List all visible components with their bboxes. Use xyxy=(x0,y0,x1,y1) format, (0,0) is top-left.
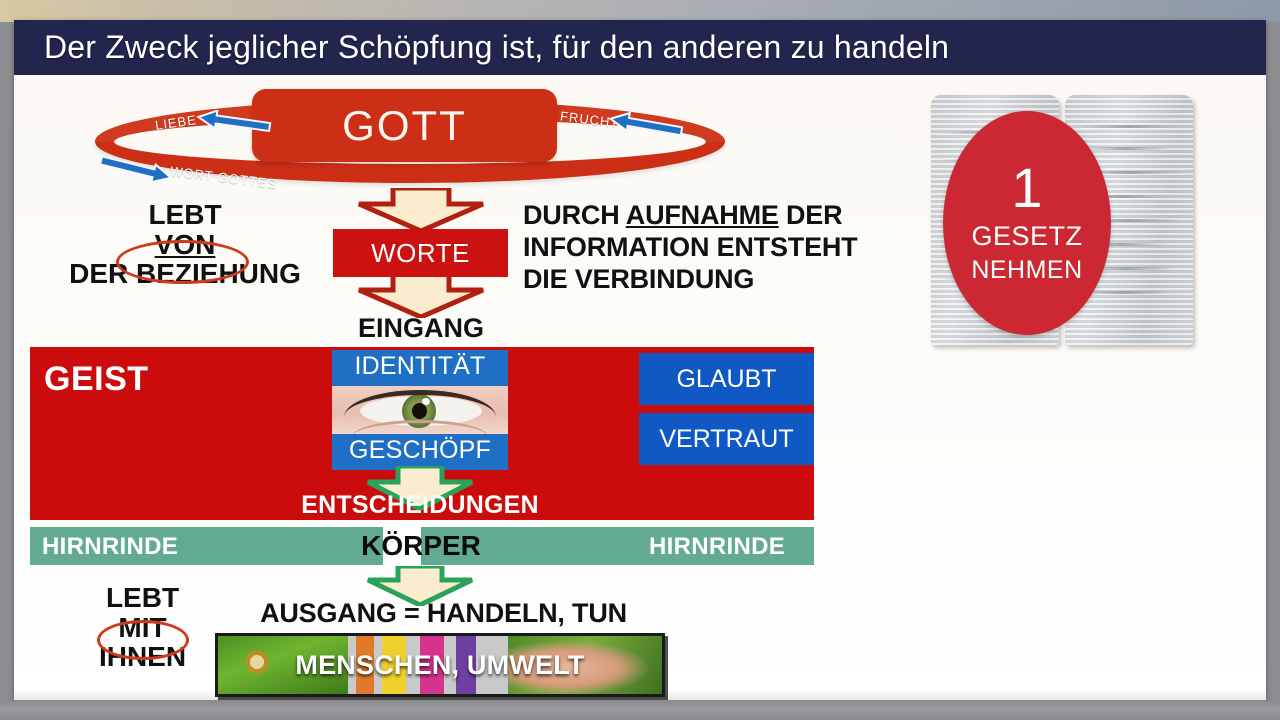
arrow-left-icon-frucht xyxy=(608,112,684,138)
aufnahme-underlined: AUFNAHME xyxy=(626,200,779,230)
lebt-von-line1: LEBT xyxy=(65,200,305,230)
arrow-right-icon xyxy=(98,155,174,181)
lebt-mit-block: LEBT MIT IHNEN xyxy=(65,583,220,672)
lebt-von-line2: VON xyxy=(155,229,216,260)
koerper-label: KÖRPER xyxy=(330,530,512,562)
hirnrinde-left-label: HIRNRINDE xyxy=(42,533,178,561)
lebt-mit-line3: IHNEN xyxy=(65,642,220,672)
slide-title-bar: Der Zweck jeglicher Schöpfung ist, für d… xyxy=(14,20,1266,75)
nehmen-word: NEHMEN xyxy=(971,256,1082,285)
gott-box: GOTT xyxy=(252,89,557,162)
human-eye-photo xyxy=(332,386,508,434)
side-box-vertraut: VERTRAUT xyxy=(639,413,814,465)
gott-label: GOTT xyxy=(342,102,467,150)
arrow-left-icon xyxy=(196,110,272,134)
gesetz-word: GESETZ xyxy=(971,221,1082,252)
geist-label: GEIST xyxy=(44,360,149,399)
arrow-down-icon-to-eingang xyxy=(333,274,509,318)
page-title: Der Zweck jeglicher Schöpfung ist, für d… xyxy=(14,29,949,66)
arrow-down-icon-to-worte xyxy=(333,188,509,232)
menschen-umwelt-photo-strip: MENSCHEN, UMWELT xyxy=(215,633,665,697)
top-gradient-strip xyxy=(0,0,1280,22)
aufnahme-text-part1: DURCH xyxy=(523,200,626,230)
gesetz-number: 1 xyxy=(1011,161,1042,214)
worte-box: WORTE xyxy=(333,229,508,277)
aufnahme-text-block: DURCH AUFNAHME DER INFORMATION ENTSTEHT … xyxy=(523,200,903,296)
photo-strip-label: MENSCHEN, UMWELT xyxy=(218,650,662,681)
stone-tablets: 1 GESETZ NEHMEN xyxy=(925,95,1195,350)
side-box-glaubt: GLAUBT xyxy=(639,353,814,405)
lebt-von-line3: DER BEZIEHUNG xyxy=(65,259,305,289)
worte-label: WORTE xyxy=(371,238,470,269)
lebt-mit-line1: LEBT xyxy=(65,583,220,613)
entscheidungen-label: ENTSCHEIDUNGEN xyxy=(230,491,610,520)
hirnrinde-right-label: HIRNRINDE xyxy=(649,533,785,561)
lebt-von-block: LEBT VON DER BEZIEHUNG xyxy=(65,200,305,289)
side-box-glaubt-label: GLAUBT xyxy=(676,365,776,394)
gesetz-badge: 1 GESETZ NEHMEN xyxy=(943,111,1111,335)
identity-bottom-label: GESCHÖPF xyxy=(332,436,508,465)
lebt-mit-line2: MIT xyxy=(65,613,220,643)
side-box-vertraut-label: VERTRAUT xyxy=(659,425,793,454)
ausgang-label: AUSGANG = HANDELN, TUN xyxy=(226,598,661,629)
eingang-label: EINGANG xyxy=(330,313,512,344)
identity-top-label: IDENTITÄT xyxy=(332,352,508,381)
bottom-shadow-strip xyxy=(0,700,1280,720)
slide-stage: Der Zweck jeglicher Schöpfung ist, für d… xyxy=(0,0,1280,720)
identity-box: IDENTITÄT GESCHÖPF xyxy=(332,350,508,470)
